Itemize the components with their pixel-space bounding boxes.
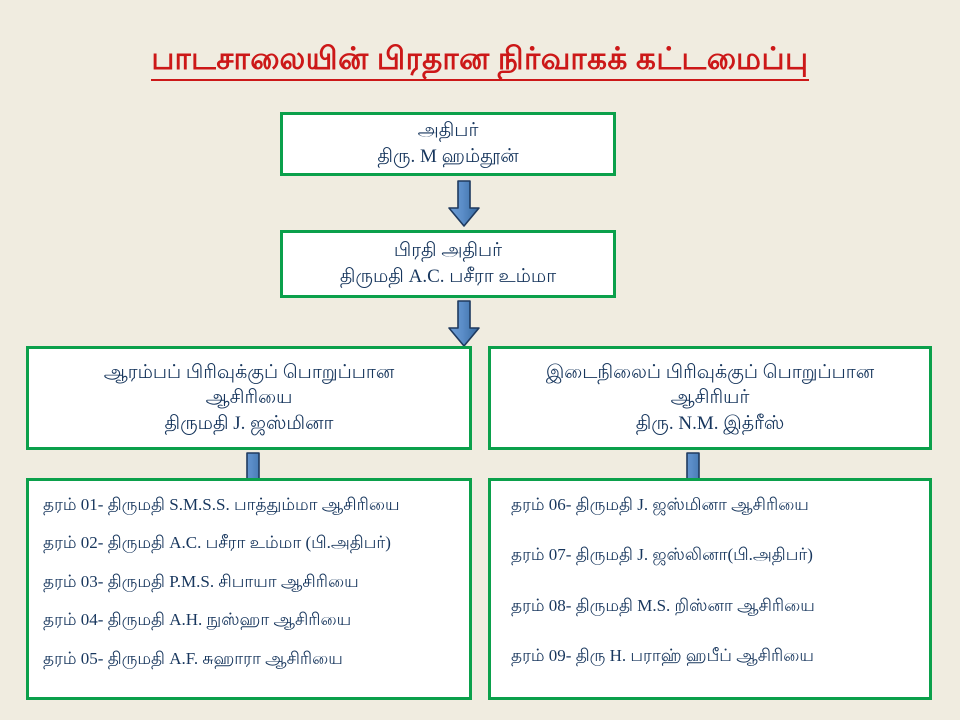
primary-grade-row: தரம் 04- திருமதி A.H. நுஸ்ஹா ஆசிரியை [43,610,351,630]
page-title-text: பாடசாலையின் பிரதான நிர்வாகக் கட்டமைப்பு [151,40,808,81]
secondary-grade-row: தரம் 08- திருமதி M.S. றிஸ்னா ஆசிரியை [505,596,815,616]
secondary-grade-row: தரம் 09- திரு H. பராஹ் ஹபீப் ஆசிரியை [505,646,814,666]
node-secondary-role-line1: இடைநிலைப் பிரிவுக்குப் பொறுப்பான [546,360,874,386]
node-primary-section-head: ஆரம்பப் பிரிவுக்குப் பொறுப்பான ஆசிரியை த… [26,346,472,450]
node-secondary-name: திரு. N.M. இத்ரீஸ் [636,411,785,437]
node-principal-name: திரு. M ஹம்தூன் [377,144,518,170]
primary-grade-row: தரம் 05- திருமதி A.F. சுஹாரா ஆசிரியை [43,649,343,669]
secondary-grades-list: தரம் 06- திருமதி J. ஜஸ்மினா ஆசிரியைதரம் … [488,478,932,700]
secondary-grade-row: தரம் 07- திருமதி J. ஜஸ்லினா(பி.அதிபர்) [505,545,813,565]
node-deputy-role: பிரதி அதிபர் [394,238,502,264]
primary-grade-row: தரம் 03- திருமதி P.M.S. சிபாயா ஆசிரியை [43,572,359,592]
node-primary-role-line1: ஆரம்பப் பிரிவுக்குப் பொறுப்பான [104,360,395,386]
secondary-grade-row: தரம் 06- திருமதி J. ஜஸ்மினா ஆசிரியை [505,495,809,515]
node-secondary-role-line2: ஆசிரியர் [671,385,750,411]
node-primary-name: திருமதி J. ஜஸ்மினா [165,411,334,437]
node-secondary-section-head: இடைநிலைப் பிரிவுக்குப் பொறுப்பான ஆசிரியர… [488,346,932,450]
page-title: பாடசாலையின் பிரதான நிர்வாகக் கட்டமைப்பு [0,40,960,81]
primary-grade-row: தரம் 01- திருமதி S.M.S.S. பாத்தும்மா ஆசி… [43,495,400,515]
arrow-down-icon-principal-to-deputy [447,180,481,228]
primary-grade-row: தரம் 02- திருமதி A.C. பசீரா உம்மா (பி.அத… [43,533,391,553]
node-deputy-name: திருமதி A.C. பசீரா உம்மா [340,264,556,290]
node-principal: அதிபர் திரு. M ஹம்தூன் [280,112,616,176]
primary-grades-list: தரம் 01- திருமதி S.M.S.S. பாத்தும்மா ஆசி… [26,478,472,700]
node-deputy-principal: பிரதி அதிபர் திருமதி A.C. பசீரா உம்மா [280,230,616,298]
node-primary-role-line2: ஆசிரியை [206,385,293,411]
node-principal-role: அதிபர் [418,118,479,144]
org-chart-root: பாடசாலையின் பிரதான நிர்வாகக் கட்டமைப்பு … [0,0,960,720]
arrow-down-icon-deputy-to-sections [447,300,481,348]
